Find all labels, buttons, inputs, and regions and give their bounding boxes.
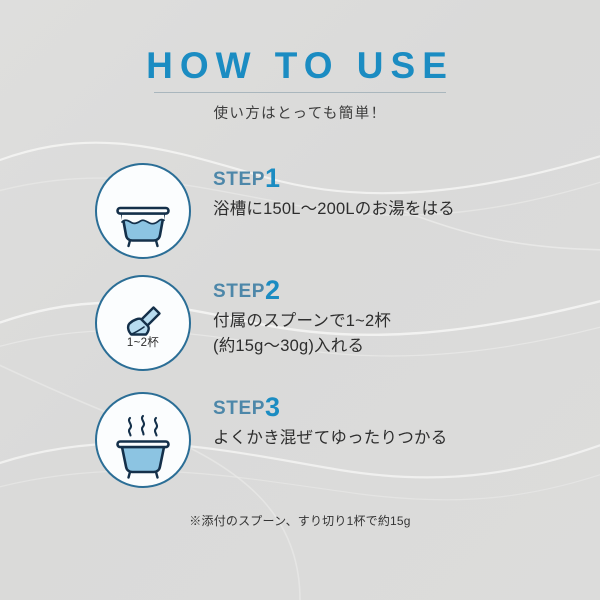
step-row-2: 1~2杯 STEP2 付属のスプーンで1~2杯 (約15g〜30g)入れる [95, 275, 555, 375]
step-1-label: STEP1 [213, 163, 555, 194]
step-1-number: 1 [265, 163, 280, 193]
step-1-text-line-1: 浴槽に150L〜200Lのお湯をはる [213, 197, 555, 222]
step-1-icon-badge [95, 163, 191, 259]
measuring-scoop-icon [97, 277, 189, 369]
step-2-body: STEP2 付属のスプーンで1~2杯 (約15g〜30g)入れる [213, 275, 555, 359]
header: HOW TO USE 使い方はとっても簡単！ [0, 44, 600, 123]
page-title: HOW TO USE [0, 44, 600, 88]
step-2-icon-caption: 1~2杯 [97, 334, 189, 350]
bathtub-with-water-icon [97, 165, 189, 257]
step-2-text-line-1: 付属のスプーンで1~2杯 [213, 309, 555, 334]
page-subtitle: 使い方はとっても簡単！ [0, 102, 600, 123]
step-3-icon-badge [95, 392, 191, 488]
step-2-label: STEP2 [213, 275, 555, 306]
step-1-body: STEP1 浴槽に150L〜200Lのお湯をはる [213, 163, 555, 222]
footnote: ※添付のスプーン、すり切り1杯で約15g [0, 512, 600, 529]
steaming-bathtub-icon [97, 394, 189, 486]
step-3-word: STEP [213, 398, 265, 419]
step-2-number: 2 [265, 275, 280, 305]
title-divider [154, 92, 446, 93]
step-row-1: STEP1 浴槽に150L〜200Lのお湯をはる [95, 163, 555, 263]
step-2-icon-badge: 1~2杯 [95, 275, 191, 371]
step-3-text-line-1: よくかき混ぜてゆったりつかる [213, 426, 555, 451]
step-3-number: 3 [265, 392, 280, 422]
step-row-3: STEP3 よくかき混ぜてゆったりつかる [95, 392, 555, 492]
step-2-word: STEP [213, 281, 265, 302]
how-to-use-poster: HOW TO USE 使い方はとっても簡単！ STEP1 浴槽に150L〜200… [0, 0, 600, 600]
step-1-word: STEP [213, 169, 265, 190]
step-2-text-line-2: (約15g〜30g)入れる [213, 334, 555, 359]
step-3-label: STEP3 [213, 392, 555, 423]
step-3-body: STEP3 よくかき混ぜてゆったりつかる [213, 392, 555, 451]
